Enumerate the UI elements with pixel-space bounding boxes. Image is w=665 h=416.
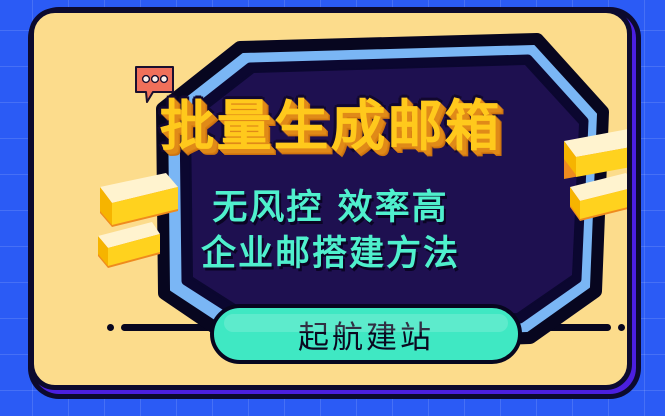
cta-button[interactable]: 起航建站	[210, 304, 522, 364]
poster-title: 批量生成邮箱	[34, 95, 627, 157]
poster-subtitle-line-2: 企业邮搭建方法	[34, 233, 627, 275]
poster-canvas: 批量生成邮箱 无风控 效率高 企业邮搭建方法 起航建站	[0, 0, 665, 416]
rule-dot-icon	[107, 324, 114, 331]
poster-subtitle-line-1: 无风控 效率高	[34, 187, 627, 229]
cta-button-label: 起航建站	[298, 312, 434, 357]
rule-dot-icon	[618, 324, 625, 331]
poster-stage: 批量生成邮箱 无风控 效率高 企业邮搭建方法 起航建站	[34, 13, 627, 385]
poster-card: 批量生成邮箱 无风控 效率高 企业邮搭建方法 起航建站	[29, 8, 632, 390]
